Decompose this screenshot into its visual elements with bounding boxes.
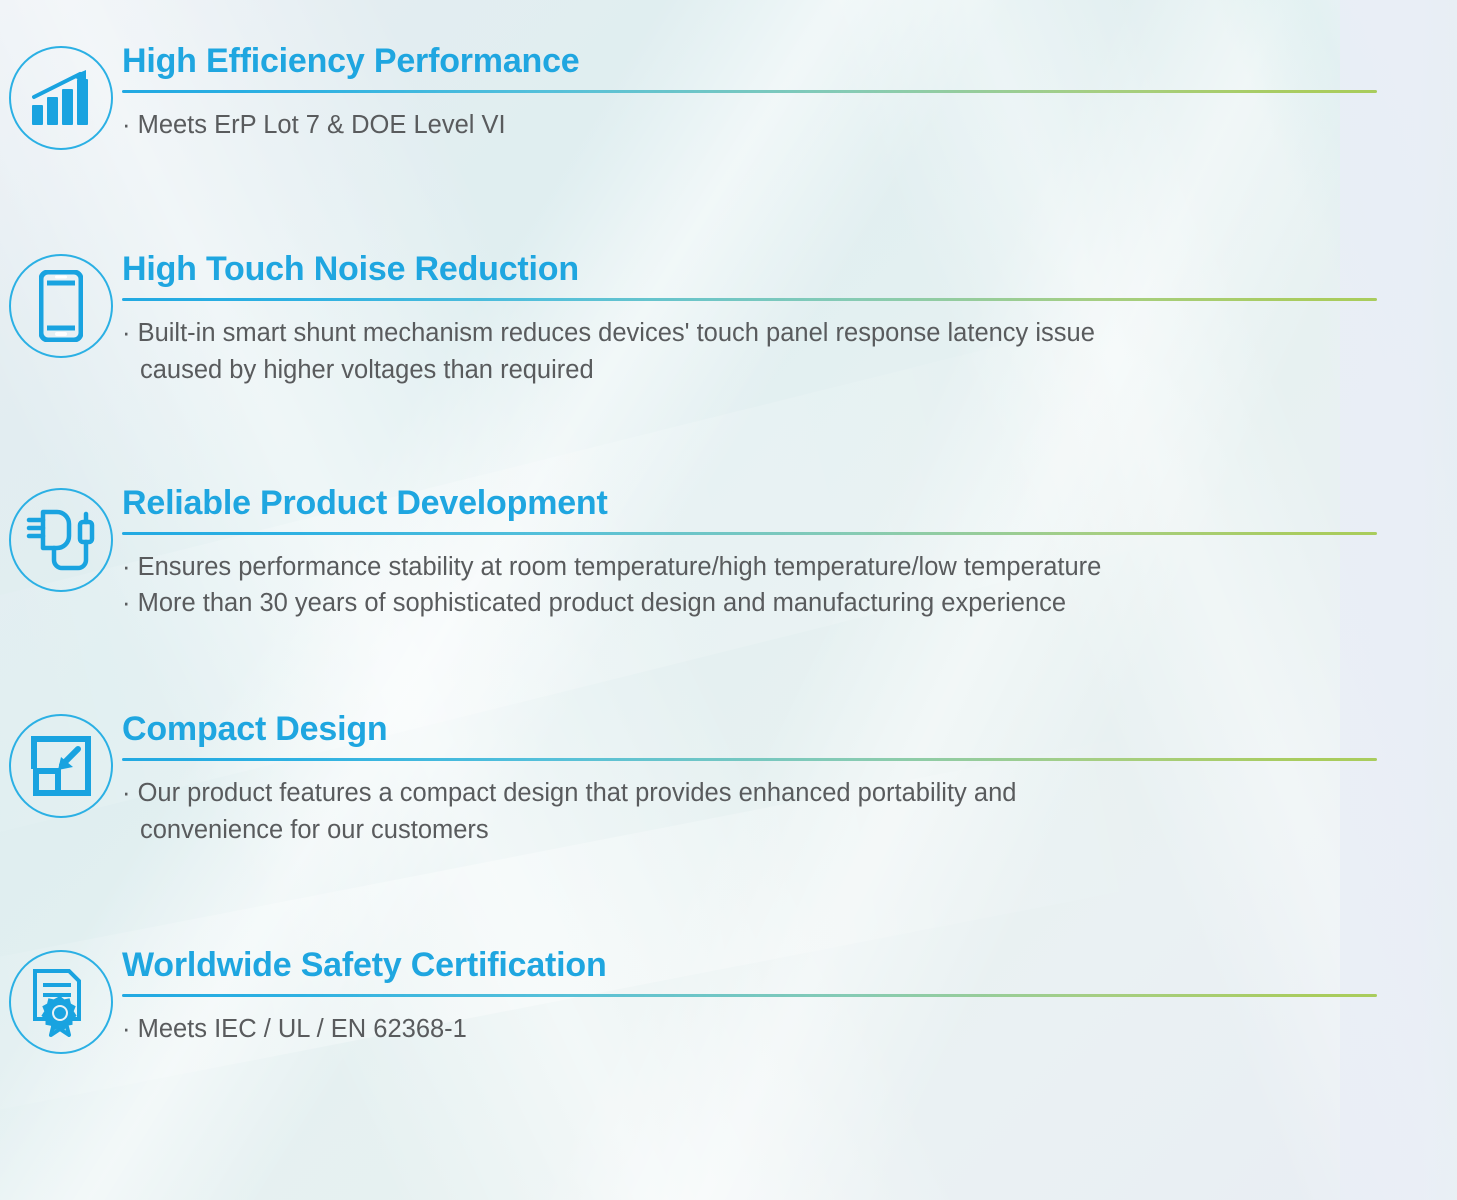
feature-item-worldwide-safety-certification: Worldwide Safety Certification · Meets I… (0, 946, 1457, 1054)
feature-body: Reliable Product Development · Ensures p… (122, 484, 1457, 623)
feature-icon-container (0, 42, 122, 150)
bar-chart-growth-icon (9, 46, 113, 150)
feature-item-reliable-product-development: Reliable Product Development · Ensures p… (0, 484, 1457, 623)
feature-title: High Efficiency Performance (122, 42, 1377, 80)
feature-title: High Touch Noise Reduction (122, 250, 1377, 288)
feature-item-high-efficiency-performance: High Efficiency Performance · Meets ErP … (0, 42, 1457, 150)
feature-divider (122, 298, 1377, 301)
description-line: caused by higher voltages than required (122, 352, 1377, 389)
feature-title: Worldwide Safety Certification (122, 946, 1377, 984)
feature-divider (122, 994, 1377, 997)
description-line: · Our product features a compact design … (122, 775, 1377, 812)
description-line: convenience for our customers (122, 812, 1377, 849)
description-line: · Built-in smart shunt mechanism reduces… (122, 315, 1377, 352)
feature-body: Compact Design · Our product features a … (122, 710, 1457, 849)
feature-description: · Built-in smart shunt mechanism reduces… (122, 315, 1377, 388)
feature-description: · Ensures performance stability at room … (122, 549, 1377, 622)
power-adapter-icon (9, 488, 113, 592)
feature-title: Reliable Product Development (122, 484, 1377, 522)
feature-item-high-touch-noise-reduction: High Touch Noise Reduction · Built-in sm… (0, 250, 1457, 389)
feature-description: · Meets ErP Lot 7 & DOE Level VI (122, 107, 1377, 144)
feature-divider (122, 758, 1377, 761)
description-line: · More than 30 years of sophisticated pr… (122, 585, 1377, 622)
feature-icon-container (0, 484, 122, 592)
description-line: · Ensures performance stability at room … (122, 549, 1377, 586)
feature-description: · Our product features a compact design … (122, 775, 1377, 848)
description-line: · Meets IEC / UL / EN 62368-1 (122, 1011, 1377, 1048)
feature-body: Worldwide Safety Certification · Meets I… (122, 946, 1457, 1048)
compact-shrink-icon (9, 714, 113, 818)
feature-body: High Touch Noise Reduction · Built-in sm… (122, 250, 1457, 389)
feature-icon-container (0, 710, 122, 818)
feature-item-compact-design: Compact Design · Our product features a … (0, 710, 1457, 849)
feature-body: High Efficiency Performance · Meets ErP … (122, 42, 1457, 144)
feature-title: Compact Design (122, 710, 1377, 748)
feature-highlights-page: High Efficiency Performance · Meets ErP … (0, 0, 1457, 1200)
feature-list: High Efficiency Performance · Meets ErP … (0, 42, 1457, 1054)
smartphone-icon (9, 254, 113, 358)
feature-description: · Meets IEC / UL / EN 62368-1 (122, 1011, 1377, 1048)
feature-divider (122, 532, 1377, 535)
description-line: · Meets ErP Lot 7 & DOE Level VI (122, 107, 1377, 144)
feature-icon-container (0, 946, 122, 1054)
certificate-award-icon (9, 950, 113, 1054)
feature-icon-container (0, 250, 122, 358)
feature-divider (122, 90, 1377, 93)
